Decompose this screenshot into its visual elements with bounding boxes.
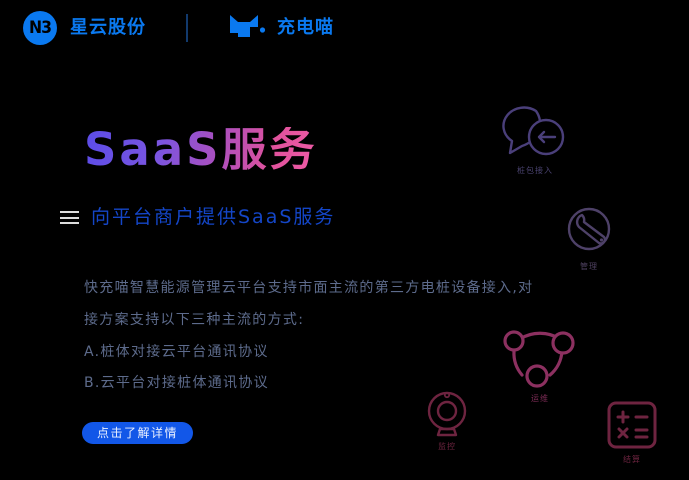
deco-pile-access: 桩包接入 bbox=[498, 103, 572, 175]
brand-xingyun[interactable]: N3 星云股份 bbox=[23, 11, 146, 45]
calculator-icon bbox=[606, 400, 658, 454]
header-divider bbox=[186, 14, 188, 42]
chat-bubbles-arrow-icon bbox=[498, 103, 572, 165]
circle-logo-icon: N3 bbox=[23, 11, 57, 45]
brand-xingyun-label: 星云股份 bbox=[70, 19, 146, 37]
subtitle-row: 向平台商户提供SaaS服务 bbox=[60, 208, 335, 227]
deco-settle-label: 结算 bbox=[623, 456, 641, 464]
cat-megaphone-logo-icon bbox=[228, 13, 268, 43]
page-title: SaaS服务 bbox=[84, 127, 318, 172]
deco-network-label: 运维 bbox=[531, 395, 549, 403]
camera-monitor-icon bbox=[424, 389, 470, 441]
brand-chongdianmiao[interactable]: 充电喵 bbox=[228, 13, 334, 43]
deco-monitor-label: 监控 bbox=[438, 443, 456, 451]
deco-network: 运维 bbox=[500, 323, 580, 403]
deco-settle: 结算 bbox=[606, 400, 658, 464]
deco-pile-access-label: 桩包接入 bbox=[517, 167, 553, 175]
deco-manage: 管理 bbox=[563, 205, 615, 271]
node-network-icon bbox=[500, 323, 580, 393]
page-subtitle: 向平台商户提供SaaS服务 bbox=[91, 208, 335, 227]
hamburger-icon bbox=[60, 211, 79, 224]
learn-more-button[interactable]: 点击了解详情 bbox=[82, 422, 193, 444]
page-root: N3 星云股份 充电喵 SaaS服务 向平台商户提供SaaS服务 快充喵智慧能源… bbox=[0, 0, 689, 480]
body-paragraph-line1: 快充喵智慧能源管理云平台支持市面主流的第三方电桩设备接入,对 bbox=[84, 277, 584, 299]
logo-glyph: N3 bbox=[29, 20, 51, 37]
brand-chongdianmiao-label: 充电喵 bbox=[277, 19, 334, 37]
wrench-gear-icon bbox=[563, 205, 615, 261]
deco-manage-label: 管理 bbox=[580, 263, 598, 271]
deco-monitor: 监控 bbox=[424, 389, 470, 451]
header-bar: N3 星云股份 充电喵 bbox=[0, 0, 689, 56]
